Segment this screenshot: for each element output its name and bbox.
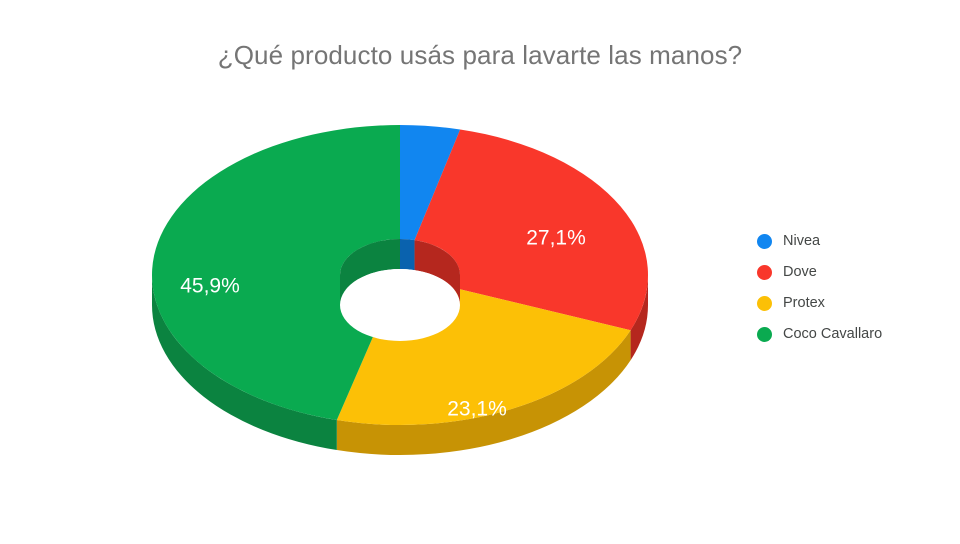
legend-swatch-icon (757, 234, 772, 249)
legend-item[interactable]: Dove (757, 257, 957, 288)
legend-item-label: Coco Cavallaro (783, 327, 882, 342)
legend-item-label: Protex (783, 296, 825, 311)
legend-swatch-icon (757, 296, 772, 311)
legend-item[interactable]: Protex (757, 288, 957, 319)
donut-hole (340, 239, 460, 341)
legend-swatch-icon (757, 265, 772, 280)
legend-item[interactable]: Coco Cavallaro (757, 319, 957, 350)
slice-percentage-label: 45,9% (180, 275, 240, 298)
legend-swatch-icon (757, 327, 772, 342)
legend-item[interactable]: Nivea (757, 226, 957, 257)
legend-item-label: Nivea (783, 234, 820, 249)
pie-chart-canvas: ¿Qué producto usás para lavarte las mano… (0, 0, 960, 544)
hole-inner-wall-nivea (400, 239, 415, 270)
donut-hole-floor (340, 269, 460, 341)
slice-percentage-label: 23,1% (447, 398, 507, 421)
chart-legend: NiveaDoveProtexCoco Cavallaro (757, 226, 957, 350)
legend-item-label: Dove (783, 265, 817, 280)
slice-percentage-label: 27,1% (526, 227, 586, 250)
